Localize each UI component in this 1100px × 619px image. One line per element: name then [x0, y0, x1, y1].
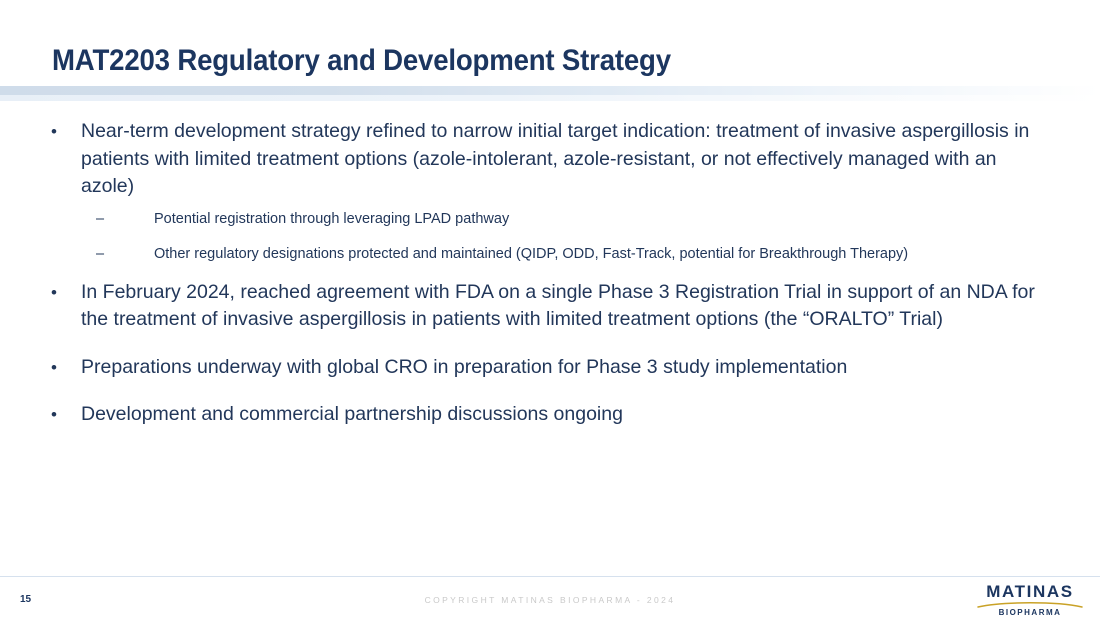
header-accent-band-fade — [0, 95, 1100, 101]
header-accent-band — [0, 86, 1100, 95]
matinas-biopharma-logo: MATINAS BIOPHARMA — [974, 583, 1086, 618]
body-content: • Near-term development strategy refined… — [44, 118, 1054, 442]
sub-bullet-marker: – — [44, 209, 154, 230]
bullet-text: Preparations underway with global CRO in… — [81, 354, 1054, 382]
sub-bullet-group: – Potential registration through leverag… — [44, 209, 1054, 265]
sub-bullet-text: Potential registration through leveragin… — [154, 209, 1054, 230]
bullet-marker: • — [44, 354, 81, 382]
sub-bullet-text: Other regulatory designations protected … — [154, 244, 1054, 265]
bullet-marker: • — [44, 118, 81, 146]
sub-bullet-item: – Other regulatory designations protecte… — [44, 244, 1054, 265]
copyright-notice: COPYRIGHT MATINAS BIOPHARMA - 2024 — [0, 595, 1100, 605]
logo-swoosh-icon — [977, 601, 1083, 608]
logo-tagline: BIOPHARMA — [974, 608, 1086, 618]
bullet-marker: • — [44, 279, 81, 307]
sub-bullet-marker: – — [44, 244, 154, 265]
bullet-item: • Near-term development strategy refined… — [44, 118, 1054, 201]
bullet-item: • In February 2024, reached agreement wi… — [44, 279, 1054, 334]
logo-wordmark: MATINAS — [974, 583, 1086, 601]
bullet-item: • Preparations underway with global CRO … — [44, 354, 1054, 382]
bullet-text: Near-term development strategy refined t… — [81, 118, 1054, 201]
sub-bullet-item: – Potential registration through leverag… — [44, 209, 1054, 230]
page-title: MAT2203 Regulatory and Development Strat… — [52, 44, 671, 78]
footer-divider — [0, 576, 1100, 577]
bullet-text: In February 2024, reached agreement with… — [81, 279, 1054, 334]
bullet-marker: • — [44, 401, 81, 429]
bullet-text: Development and commercial partnership d… — [81, 401, 1054, 429]
slide: MAT2203 Regulatory and Development Strat… — [0, 0, 1100, 619]
bullet-item: • Development and commercial partnership… — [44, 401, 1054, 429]
